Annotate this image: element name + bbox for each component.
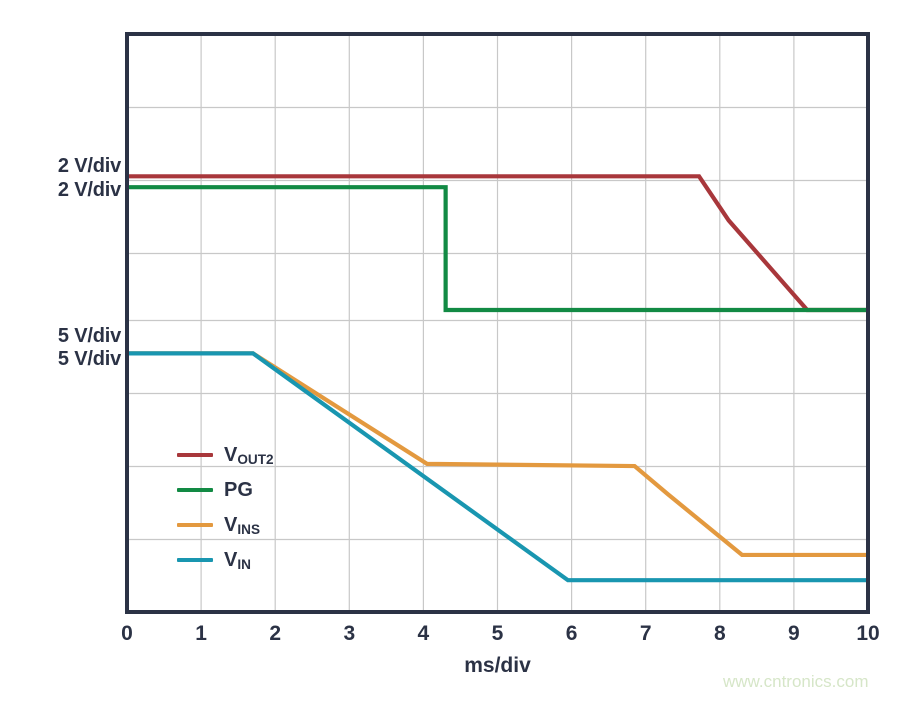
legend-label-main: PG: [224, 479, 253, 501]
legend-item[interactable]: PG: [177, 476, 253, 504]
x-axis-tick-label: 7: [626, 622, 666, 646]
legend-label: VOUT2: [224, 445, 274, 465]
x-axis-tick-label: 2: [255, 622, 295, 646]
legend-color-swatch: [177, 558, 213, 562]
x-axis-tick-label: 1: [181, 622, 221, 646]
x-axis-tick-label: 4: [403, 622, 443, 646]
x-axis-tick-label: 6: [552, 622, 592, 646]
legend-label: VIN: [224, 550, 251, 570]
x-axis-tick-label: 9: [774, 622, 814, 646]
chart-figure: 2 V/div2 V/div5 V/div5 V/div 01234567891…: [0, 0, 900, 703]
legend-label-main: V: [224, 444, 237, 466]
x-axis-tick-label: 0: [107, 622, 147, 646]
x-axis-tick-label: 8: [700, 622, 740, 646]
legend-color-swatch: [177, 488, 213, 492]
x-axis-tick-label: 3: [329, 622, 369, 646]
y-axis-label: 2 V/div: [58, 179, 121, 202]
watermark-text: www.cntronics.com: [723, 672, 868, 692]
legend-item[interactable]: VIN: [177, 546, 251, 574]
x-axis-tick-label: 10: [848, 622, 888, 646]
y-axis-label: 5 V/div: [58, 348, 121, 371]
legend-label-subscript: IN: [237, 557, 251, 572]
legend-label-subscript: OUT2: [237, 452, 273, 467]
x-axis-title: ms/div: [398, 654, 598, 678]
legend-item[interactable]: VINS: [177, 511, 260, 539]
y-axis-label: 2 V/div: [58, 155, 121, 178]
legend-label-main: V: [224, 549, 237, 571]
legend-label: PG: [224, 480, 253, 500]
legend-label-subscript: INS: [237, 522, 260, 537]
legend-label: VINS: [224, 515, 260, 535]
legend-label-main: V: [224, 514, 237, 536]
legend-item[interactable]: VOUT2: [177, 441, 274, 469]
legend-color-swatch: [177, 453, 213, 457]
x-axis-tick-label: 5: [478, 622, 518, 646]
y-axis-label: 5 V/div: [58, 325, 121, 348]
legend-color-swatch: [177, 523, 213, 527]
chart-plot-area: [0, 0, 900, 703]
